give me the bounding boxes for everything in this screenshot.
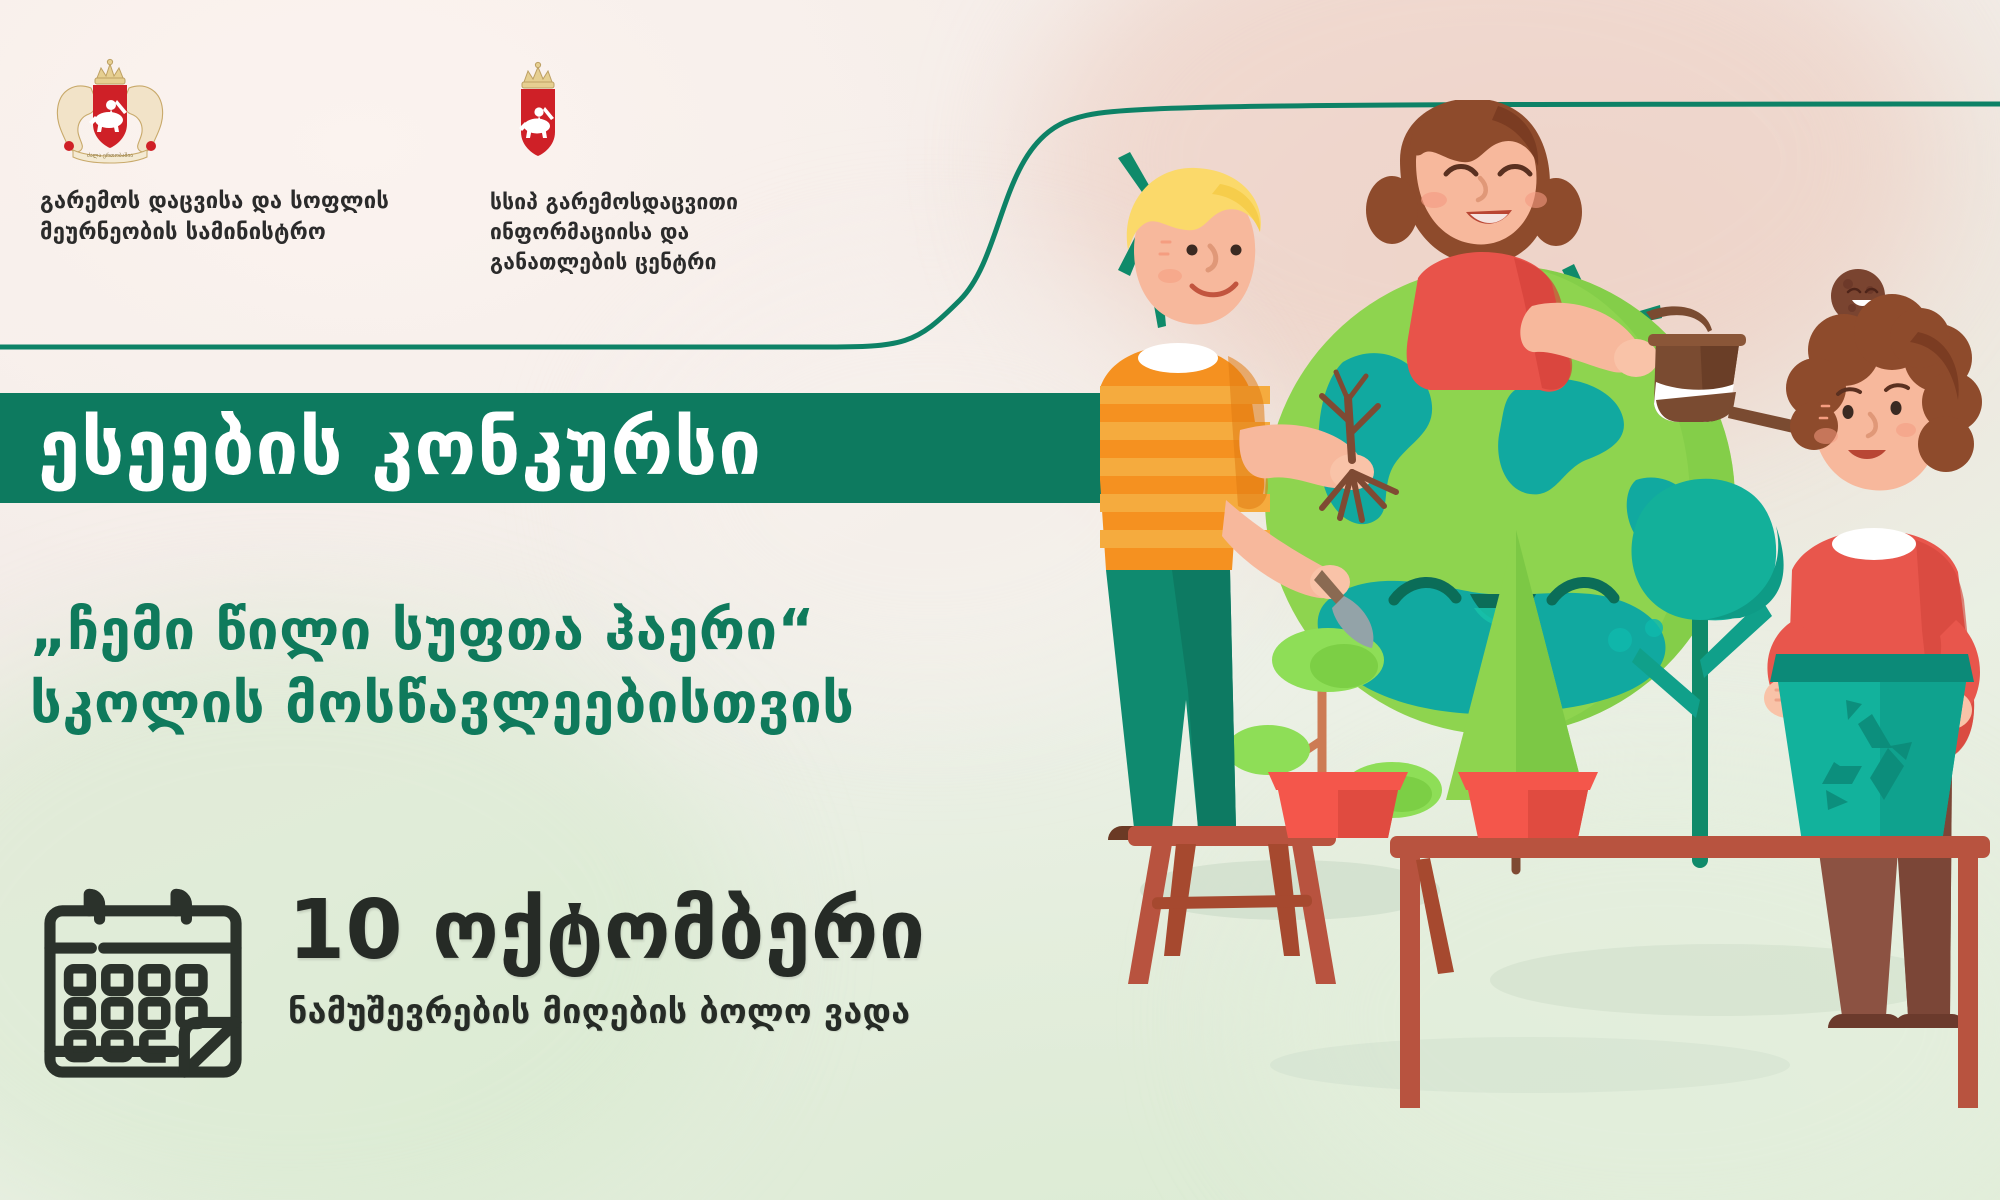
subtitle-line-2: სკოლის მოსწავლეებისთვის bbox=[30, 668, 1230, 741]
deadline-date: 10 ოქტომბერი bbox=[288, 890, 926, 972]
logo-center-text: სსიპ გარემოსდაცვითი ინფორმაციისა და განა… bbox=[490, 188, 738, 277]
pigtail-left bbox=[1366, 176, 1418, 244]
potted-sapling-left bbox=[1268, 772, 1408, 838]
logo-ministry: ძალა ერთობაშია გარემოს დაცვისა და სოფლის… bbox=[40, 58, 460, 248]
potted-sapling-right bbox=[1458, 772, 1598, 838]
logo-center: სსიპ გარემოსდაცვითი ინფორმაციისა და განა… bbox=[490, 60, 820, 277]
deadline-text: 10 ოქტომბერი ნამუშევრების მიღების ბოლო ვ… bbox=[288, 890, 926, 1032]
poster-canvas: ძალა ერთობაშია გარემოს დაცვისა და სოფლის… bbox=[0, 0, 2000, 1200]
calendar-icon bbox=[38, 886, 248, 1101]
subtitle: „ჩემი წილი სუფთა ჰაერი“ სკოლის მოსწავლეე… bbox=[30, 595, 1230, 741]
crown-icon bbox=[522, 62, 554, 88]
deadline-caption: ნამუშევრების მიღების ბოლო ვადა bbox=[288, 992, 926, 1032]
pigtail-right bbox=[1530, 178, 1582, 246]
georgia-shield-emblem-icon bbox=[502, 60, 576, 170]
subtitle-line-1: „ჩემი წილი სუფთა ჰაერი“ bbox=[30, 598, 815, 663]
background-tree-tall bbox=[1632, 479, 1784, 860]
recycling-bin bbox=[1770, 654, 1974, 842]
logo-center-line-2: ინფორმაციისა და bbox=[490, 218, 738, 248]
logo-center-line-1: სსიპ გარემოსდაცვითი bbox=[490, 188, 738, 218]
svg-text:ძალა ერთობაშია: ძალა ერთობაშია bbox=[87, 152, 133, 159]
title-banner: ესეების კონკურსი bbox=[0, 393, 1138, 503]
logo-center-line-3: განათლების ცენტრი bbox=[490, 248, 738, 278]
logo-ministry-line-1: გარემოს დაცვისა და სოფლის bbox=[40, 186, 389, 217]
header-logos: ძალა ერთობაშია გარემოს დაცვისა და სოფლის… bbox=[0, 0, 820, 277]
georgia-coat-of-arms-icon: ძალა ერთობაშია bbox=[45, 58, 175, 168]
page-title: ესეების კონკურსი bbox=[38, 410, 762, 486]
girl-watering bbox=[1366, 100, 1658, 392]
deadline-block: 10 ოქტომბერი ნამუშევრების მიღების ბოლო ვ… bbox=[38, 880, 926, 1101]
logo-ministry-text: გარემოს დაცვისა და სოფლის მეურნეობის სამ… bbox=[40, 186, 389, 248]
crown-icon bbox=[95, 59, 125, 84]
children-planting-earth-illustration bbox=[1100, 100, 2000, 1110]
wooden-stool bbox=[1128, 826, 1336, 984]
logo-ministry-line-2: მეურნეობის სამინისტრო bbox=[40, 217, 389, 248]
